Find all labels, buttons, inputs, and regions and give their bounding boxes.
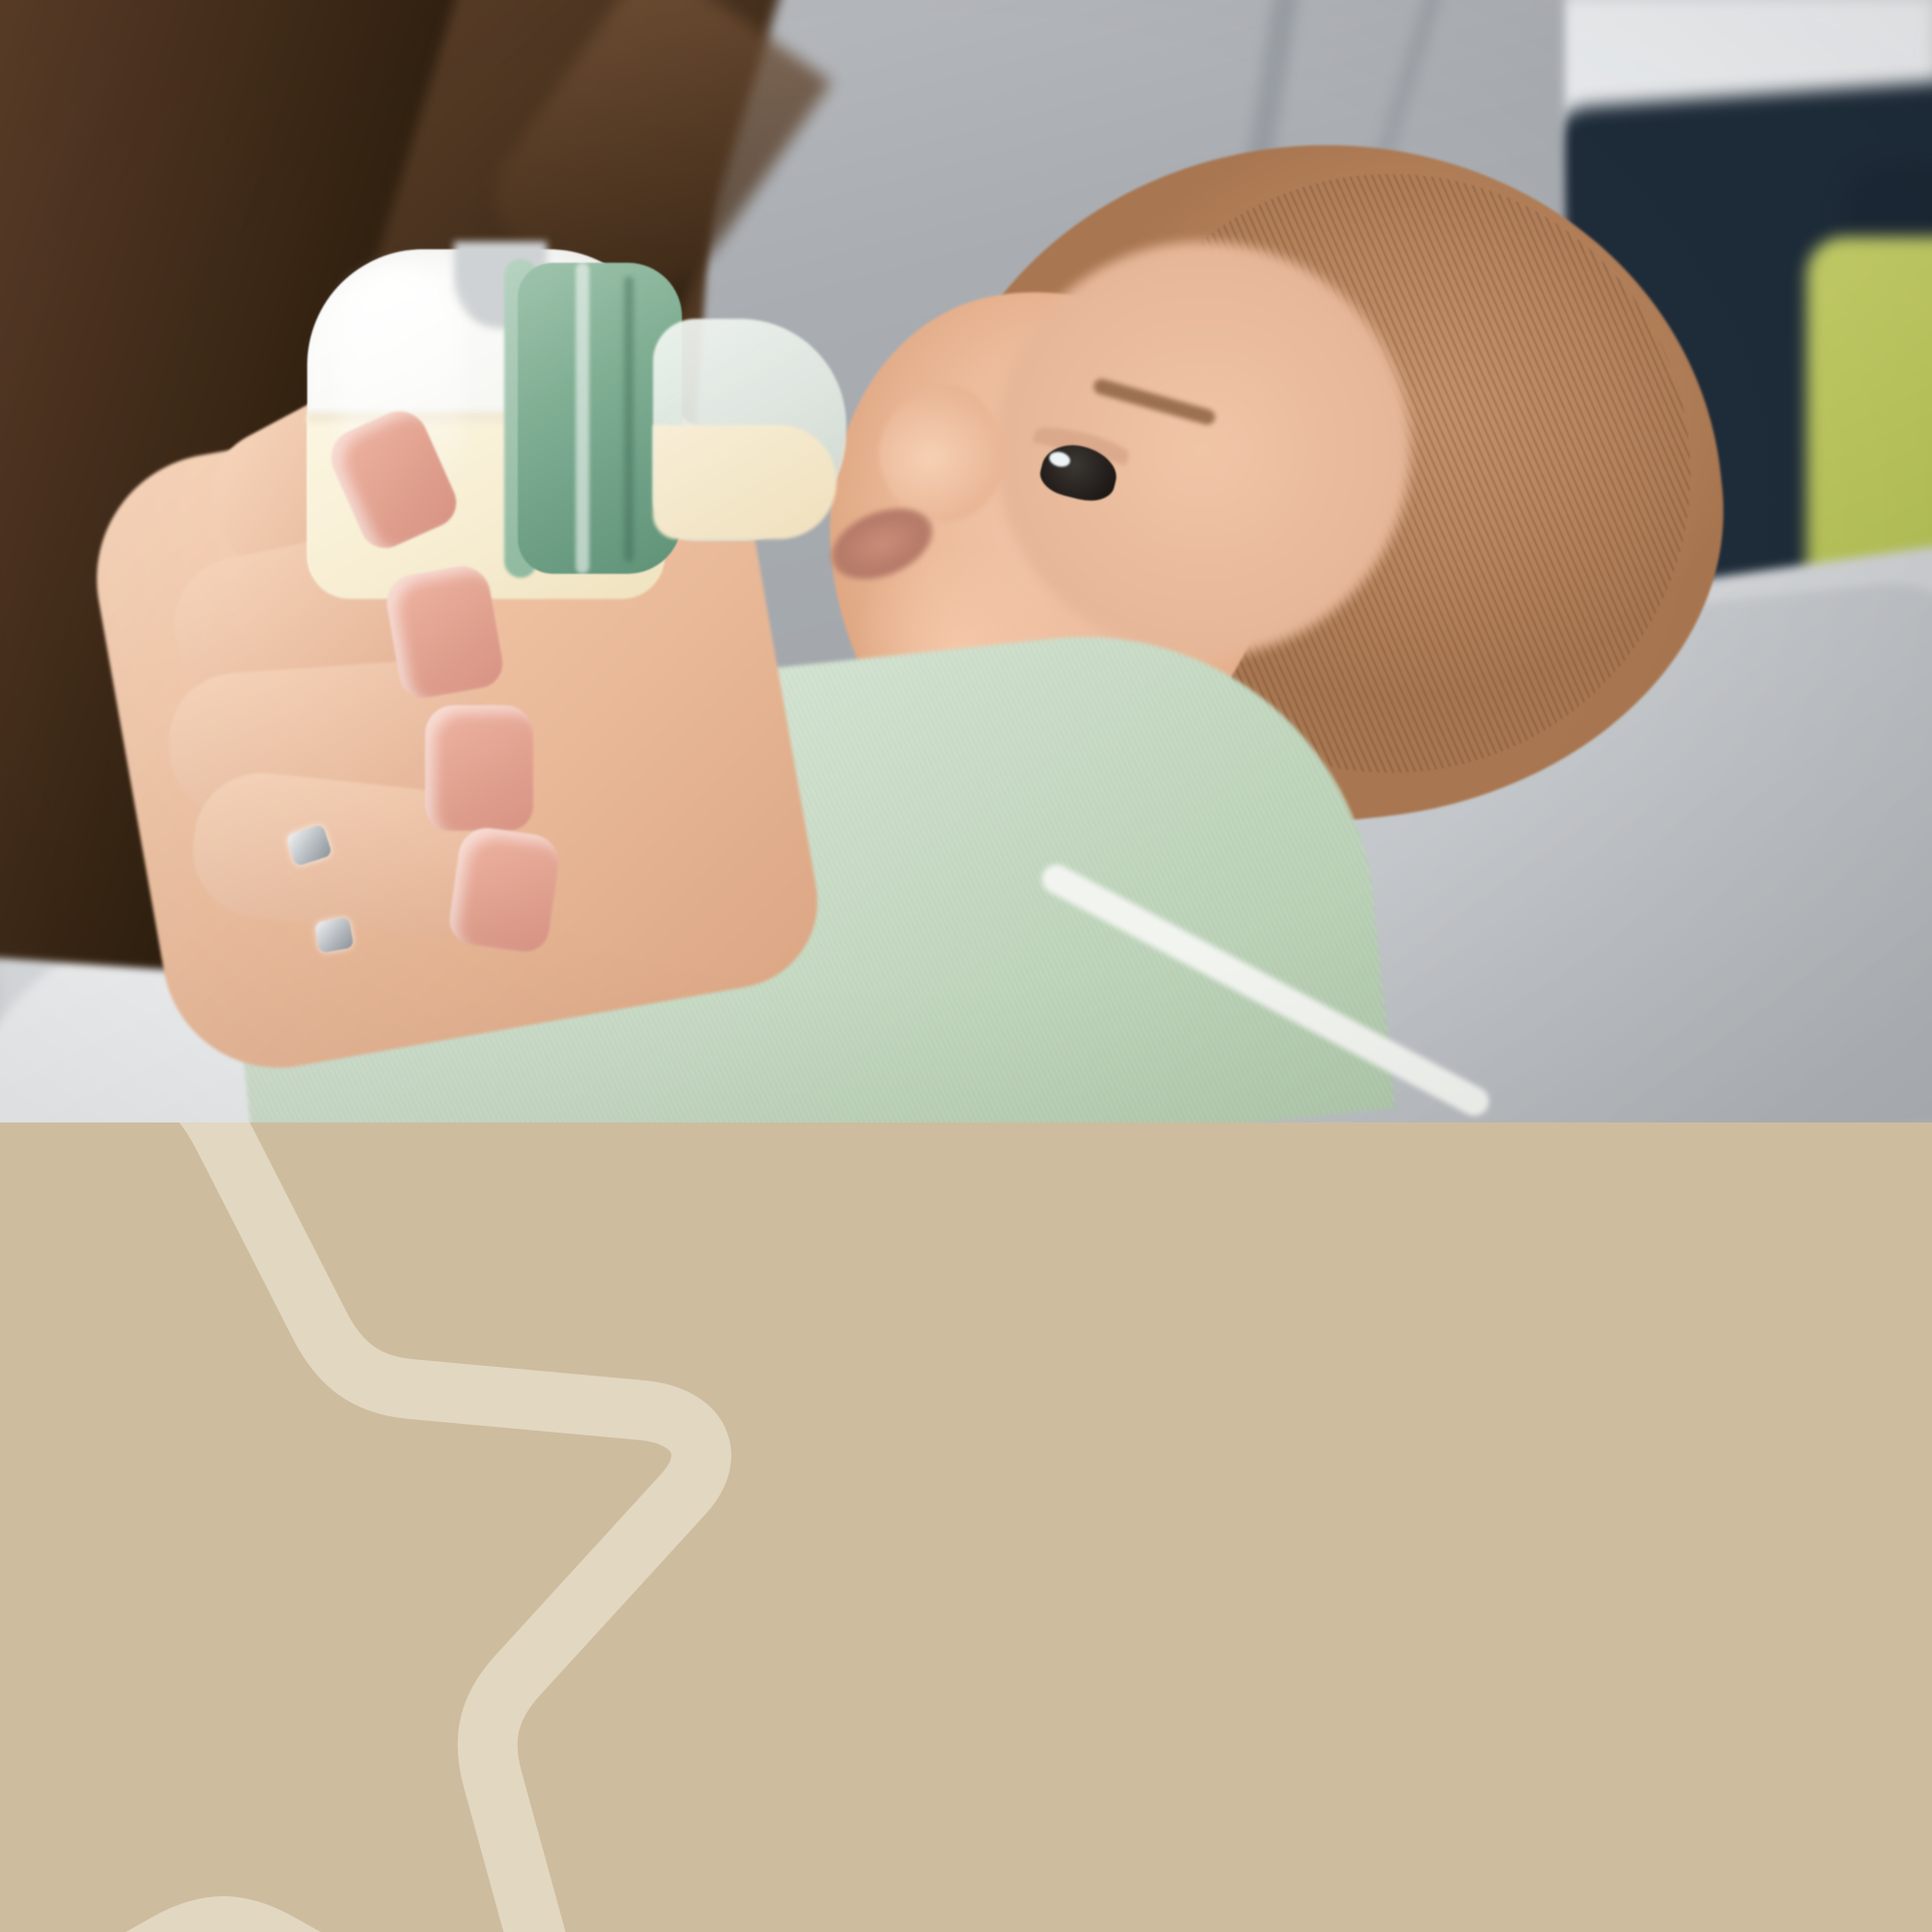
star-outline-decoration [0, 1122, 1217, 1932]
product-feature-card: Breast-like nipple The soft silicone nip… [0, 0, 1932, 1932]
photo-vignette [0, 0, 1932, 1122]
caption-panel: Breast-like nipple The soft silicone nip… [0, 1122, 1932, 1932]
product-photo [0, 0, 1932, 1122]
